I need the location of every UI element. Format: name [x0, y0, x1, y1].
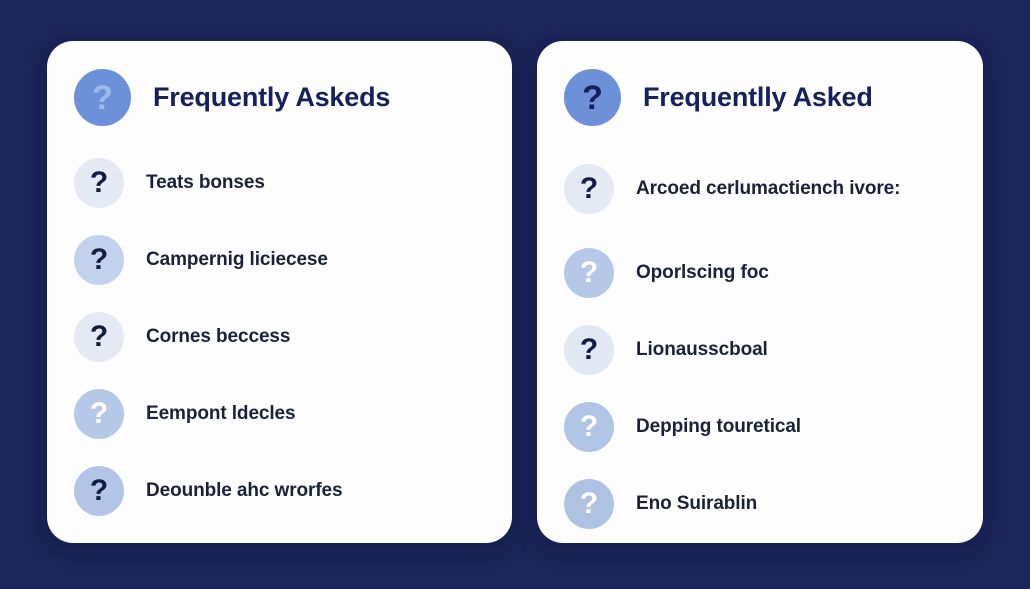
- question-mark-icon: ?: [564, 164, 614, 214]
- question-mark-icon: ?: [564, 248, 614, 298]
- question-mark-icon: ?: [74, 466, 124, 516]
- faq-card-right: ? Frequentlly Asked ? Arcoed cerlumactie…: [537, 41, 983, 543]
- question-mark-icon: ?: [74, 158, 124, 208]
- page-title: Frequently Askeds: [153, 82, 390, 113]
- list-item[interactable]: ? Oporlscing foc: [563, 234, 957, 311]
- list-item[interactable]: ? Arcoed cerlumactiench ivore:: [563, 144, 957, 234]
- faq-list-right: ? Arcoed cerlumactiench ivore: ? Oporlsc…: [563, 144, 957, 542]
- faq-card-left: ? Frequently Askeds ? Teats bonses ? Cam…: [47, 41, 512, 543]
- list-item[interactable]: ? Deounble ahc wrorfes: [73, 452, 486, 529]
- list-item-label: Teats bonses: [146, 170, 265, 196]
- list-item-label: Oporlscing foc: [636, 260, 769, 286]
- question-mark-icon: ?: [74, 235, 124, 285]
- list-item[interactable]: ? Eempont ldecles: [73, 375, 486, 452]
- list-item-label: Cornes beccess: [146, 324, 290, 350]
- question-mark-icon: ?: [564, 69, 621, 126]
- faq-card-left-header: ? Frequently Askeds: [73, 69, 486, 126]
- question-mark-icon: ?: [74, 389, 124, 439]
- list-item-label: Arcoed cerlumactiench ivore:: [636, 176, 900, 202]
- faq-board: ? Frequently Askeds ? Teats bonses ? Cam…: [0, 0, 1030, 589]
- list-item-label: Campernig liciecese: [146, 247, 328, 273]
- list-item[interactable]: ? Campernig liciecese: [73, 221, 486, 298]
- question-mark-icon: ?: [564, 479, 614, 529]
- list-item[interactable]: ? Cornes beccess: [73, 298, 486, 375]
- faq-card-right-header: ? Frequentlly Asked: [563, 69, 957, 126]
- list-item[interactable]: ? Lionausscboal: [563, 311, 957, 388]
- list-item-label: Eno Suirablin: [636, 491, 757, 517]
- question-mark-icon: ?: [74, 312, 124, 362]
- faq-list-left: ? Teats bonses ? Campernig liciecese ? C…: [73, 144, 486, 529]
- list-item-label: Lionausscboal: [636, 337, 768, 363]
- list-item-label: Eempont ldecles: [146, 401, 296, 427]
- page-title: Frequentlly Asked: [643, 82, 873, 113]
- question-mark-icon: ?: [74, 69, 131, 126]
- list-item[interactable]: ? Teats bonses: [73, 144, 486, 221]
- list-item[interactable]: ? Depping touretical: [563, 388, 957, 465]
- question-mark-icon: ?: [564, 402, 614, 452]
- list-item-label: Depping touretical: [636, 414, 801, 440]
- list-item-label: Deounble ahc wrorfes: [146, 478, 343, 504]
- question-mark-icon: ?: [564, 325, 614, 375]
- list-item[interactable]: ? Eno Suirablin: [563, 465, 957, 542]
